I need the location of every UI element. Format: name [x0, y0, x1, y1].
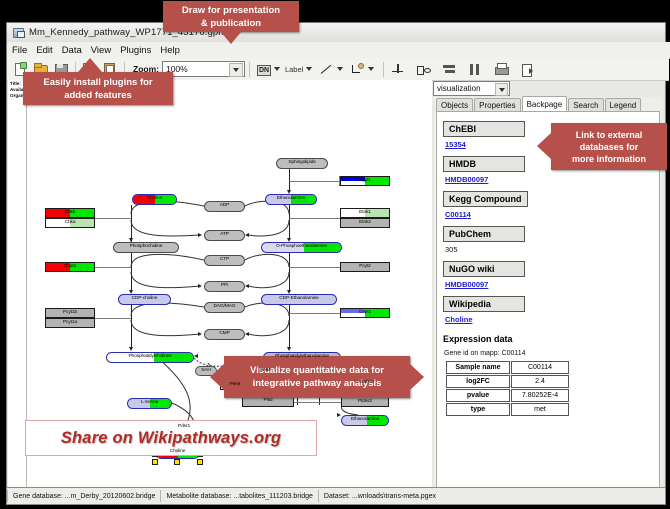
chevron-down-icon[interactable]: [274, 67, 280, 71]
node-ppi[interactable]: PPi: [204, 281, 245, 292]
callout-draw-line2: & publication: [201, 17, 261, 30]
node-sphingolipids[interactable]: Sphingolipids: [276, 158, 328, 169]
gene-chpt1[interactable]: Chpt1: [45, 262, 95, 272]
menu-view[interactable]: View: [91, 45, 111, 56]
tab-properties[interactable]: Properties: [474, 98, 520, 111]
export-icon[interactable]: [518, 60, 537, 79]
chevron-down-icon[interactable]: [368, 67, 374, 71]
tab-legend[interactable]: Legend: [605, 98, 642, 111]
section-header-chebi: ChEBI: [443, 121, 525, 137]
selection-handle[interactable]: [197, 459, 203, 465]
menu-bar: File Edit Data View Plugins Help: [7, 42, 670, 59]
link-nugo[interactable]: HMDB00097: [445, 280, 651, 289]
node-l-serine-left[interactable]: L-Serine: [127, 398, 172, 409]
callout-draw-line1: Draw for presentation: [182, 4, 280, 17]
menu-help[interactable]: Help: [160, 45, 180, 56]
status-metabolite-database: Metabolite database: ...tabolites_111203…: [161, 490, 318, 502]
panel-tabs: Objects Properties Backpage Search Legen…: [436, 97, 642, 111]
gene-pcyt1a[interactable]: Pcyt1a: [45, 318, 95, 328]
toolbar-separator: [249, 62, 250, 77]
callout-plugins-line2: added features: [64, 89, 132, 102]
cell-value: 7.80252E-4: [511, 389, 569, 402]
cell-value: met: [511, 403, 569, 416]
align-icon[interactable]: [440, 60, 459, 79]
selection-handle[interactable]: [174, 459, 180, 465]
arrow-icon: [245, 284, 249, 288]
node-cdp-ethanolamine[interactable]: CDP-Ethanolamine: [261, 294, 337, 305]
link-wikipedia[interactable]: Choline: [445, 315, 651, 324]
gene-cept1[interactable]: Cept1: [340, 308, 390, 318]
table-row: Sample name C00114: [446, 361, 569, 374]
chevron-down-icon[interactable]: [306, 67, 312, 71]
gene-etnk1[interactable]: Etnk1: [340, 208, 390, 218]
value-pubchem: 305: [445, 245, 651, 254]
node-phosphatidylcholines[interactable]: Phosphatidylcholines: [106, 352, 194, 363]
callout-visualize: Visualize quantitative data for integrat…: [224, 356, 410, 398]
anchor-icon[interactable]: [388, 60, 407, 79]
menu-plugins[interactable]: Plugins: [120, 45, 151, 56]
section-header-nugo: NuGO wiki: [443, 261, 525, 277]
app-icon: [12, 27, 25, 38]
link-kegg[interactable]: C00114: [445, 210, 651, 219]
callout-plugins-line1: Easily install plugins for: [43, 76, 152, 89]
arrow-icon: [194, 354, 198, 358]
screen-root: Mm_Kennedy_pathway_WP1771_45176.gpml Fil…: [0, 0, 670, 509]
label-shape-icon[interactable]: [414, 60, 433, 79]
menu-data[interactable]: Data: [62, 45, 82, 56]
chevron-down-icon[interactable]: [229, 63, 243, 77]
arrow-icon: [245, 332, 249, 336]
node-ethanolamine-right[interactable]: Ethanolamine: [341, 415, 389, 426]
gene-id-line: Gene id on mapp: C00114: [444, 350, 651, 357]
status-dataset: Dataset: ...wnloads\trans-meta.pgex: [319, 490, 441, 502]
menu-file[interactable]: File: [12, 45, 27, 56]
callout-draw-pointer: [220, 31, 242, 44]
status-gene-database: Gene database: ...m_Derby_20120602.bridg…: [7, 490, 161, 502]
node-o-phosphoethanolamine[interactable]: O-Phosphoethanolamine: [261, 242, 342, 253]
cell-value: 2.4: [511, 375, 569, 388]
visualization-combo[interactable]: visualization: [433, 81, 510, 96]
line-tool[interactable]: [317, 60, 343, 79]
node-choline-top[interactable]: Choline: [132, 194, 177, 205]
section-header-pubchem: PubChem: [443, 226, 525, 242]
expression-table: Sample name C00114 log2FC 2.4 pvalue 7.8…: [445, 360, 570, 417]
node-dagmag[interactable]: DAG/MAG: [204, 302, 245, 313]
label-tool-label: Label: [285, 65, 303, 74]
tab-search[interactable]: Search: [568, 98, 603, 111]
callout-visualize-pointer: [210, 364, 224, 390]
visualization-value: visualization: [437, 84, 481, 93]
node-atp[interactable]: ATP: [204, 230, 245, 241]
print-icon[interactable]: [492, 60, 511, 79]
arrow-icon: [337, 413, 341, 417]
section-header-hmdb: HMDB: [443, 156, 525, 172]
link-hmdb[interactable]: HMDB00097: [445, 175, 651, 184]
section-header-kegg: Kegg Compound: [443, 191, 528, 207]
node-cmp[interactable]: CMP: [204, 329, 245, 340]
table-row: type met: [446, 403, 569, 416]
arrow-icon: [198, 332, 202, 336]
edge: [294, 402, 319, 403]
arrow-icon: [198, 233, 202, 237]
datanode-icon[interactable]: DN: [254, 60, 273, 79]
label-tool[interactable]: Label: [285, 65, 312, 74]
gene-sgpl1[interactable]: Sgpl1: [340, 176, 390, 186]
callout-link-line1: Link to external: [576, 129, 643, 141]
chevron-down-icon[interactable]: [337, 67, 343, 71]
callout-plugins: Easily install plugins for added feature…: [23, 72, 173, 105]
expression-data-title: Expression data: [443, 334, 651, 344]
tab-objects[interactable]: Objects: [436, 98, 473, 111]
table-row: log2FC 2.4: [446, 375, 569, 388]
chevron-down-icon[interactable]: [495, 83, 508, 96]
callout-link-line3: more information: [572, 153, 646, 165]
tab-backpage[interactable]: Backpage: [522, 96, 568, 111]
cell-key: pvalue: [446, 389, 510, 402]
callout-link-line2: databases for: [580, 141, 639, 153]
arrow-icon: [245, 233, 249, 237]
callout-link-pointer: [537, 133, 551, 159]
gene-chkb[interactable]: Chkb: [45, 208, 95, 218]
callout-draw: Draw for presentation & publication: [163, 1, 299, 32]
zoom-combo[interactable]: 100%: [162, 61, 245, 77]
callout-visualize-pointer-right: [410, 364, 424, 390]
gene-ptdss2[interactable]: Ptdss2: [341, 397, 389, 407]
node-adp[interactable]: ADP: [204, 201, 245, 212]
gene-chka[interactable]: Chka: [45, 218, 95, 228]
cell-key: log2FC: [446, 375, 510, 388]
node-phosphocholine[interactable]: Phosphocholine: [113, 242, 179, 253]
distribute-icon[interactable]: [466, 60, 485, 79]
toolbar-separator: [383, 62, 384, 77]
connector-tool[interactable]: [348, 60, 374, 79]
section-header-wikipedia: Wikipedia: [443, 296, 525, 312]
cell-value: C00114: [511, 361, 569, 374]
elbow-connector-icon[interactable]: [348, 60, 367, 79]
gene-pcyt1b[interactable]: Pcyt1b: [45, 308, 95, 318]
node-ethanolamine-top[interactable]: Ethanolamine: [265, 194, 317, 205]
status-bar: Gene database: ...m_Derby_20120602.bridg…: [6, 487, 666, 505]
cell-key: Sample name: [446, 361, 510, 374]
arrow-icon: [198, 284, 202, 288]
datanode-tool[interactable]: DN: [254, 60, 280, 79]
node-cdp-choline[interactable]: CDP-choline: [118, 294, 171, 305]
selection-handle[interactable]: [152, 459, 158, 465]
title-bar: Mm_Kennedy_pathway_WP1771_45176.gpml: [7, 23, 665, 43]
table-row: pvalue 7.80252E-4: [446, 389, 569, 402]
menu-edit[interactable]: Edit: [36, 45, 52, 56]
callout-plugins-pointer: [78, 58, 102, 72]
cell-key: type: [446, 403, 510, 416]
callout-visualize-line1: Visualize quantitative data for: [250, 364, 384, 377]
node-ctp[interactable]: CTP: [204, 255, 245, 266]
edge: [319, 402, 341, 403]
callout-link: Link to external databases for more info…: [551, 123, 667, 170]
gene-etnk2[interactable]: Etnk2: [340, 218, 390, 228]
line-icon[interactable]: [317, 60, 336, 79]
gene-pcyt2[interactable]: Pcyt2: [340, 262, 390, 272]
